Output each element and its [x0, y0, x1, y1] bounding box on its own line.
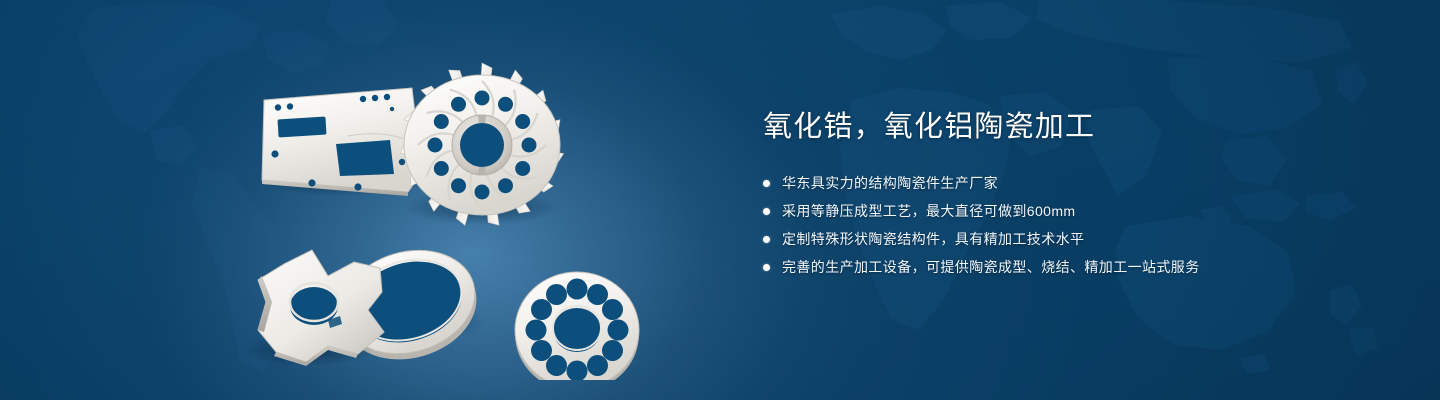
ceramic-products-collage	[232, 40, 702, 380]
banner-copy-block: 氧化锆，氧化铝陶瓷加工 华东具实力的结构陶瓷件生产厂家 采用等静压成型工艺，最大…	[763, 108, 1383, 284]
feature-text: 完善的生产加工设备，可提供陶瓷成型、烧结、精加工一站式服务	[782, 256, 1200, 279]
page-title: 氧化锆，氧化铝陶瓷加工	[763, 108, 1383, 146]
list-item: 华东具实力的结构陶瓷件生产厂家	[763, 172, 1383, 195]
list-item: 采用等静压成型工艺，最大直径可做到600mm	[763, 200, 1383, 223]
list-item: 定制特殊形状陶瓷结构件，具有精加工技术水平	[763, 228, 1383, 251]
feature-text: 采用等静压成型工艺，最大直径可做到600mm	[782, 200, 1075, 223]
feature-list: 华东具实力的结构陶瓷件生产厂家 采用等静压成型工艺，最大直径可做到600mm 定…	[763, 172, 1383, 279]
list-item: 完善的生产加工设备，可提供陶瓷成型、烧结、精加工一站式服务	[763, 256, 1383, 279]
bullet-dot-icon	[763, 180, 770, 187]
feature-text: 定制特殊形状陶瓷结构件，具有精加工技术水平	[782, 228, 1084, 251]
ceramic-product-banner: 氧化锆，氧化铝陶瓷加工 华东具实力的结构陶瓷件生产厂家 采用等静压成型工艺，最大…	[0, 0, 1440, 400]
feature-text: 华东具实力的结构陶瓷件生产厂家	[782, 172, 998, 195]
ceramic-perforated-ring-disc	[515, 272, 639, 380]
bullet-dot-icon	[763, 264, 770, 271]
ceramic-impeller-disc	[399, 63, 563, 227]
bullet-dot-icon	[763, 208, 770, 215]
ceramic-mounting-plate	[256, 88, 428, 196]
ceramic-cross-plate	[242, 250, 384, 366]
bullet-dot-icon	[763, 236, 770, 243]
